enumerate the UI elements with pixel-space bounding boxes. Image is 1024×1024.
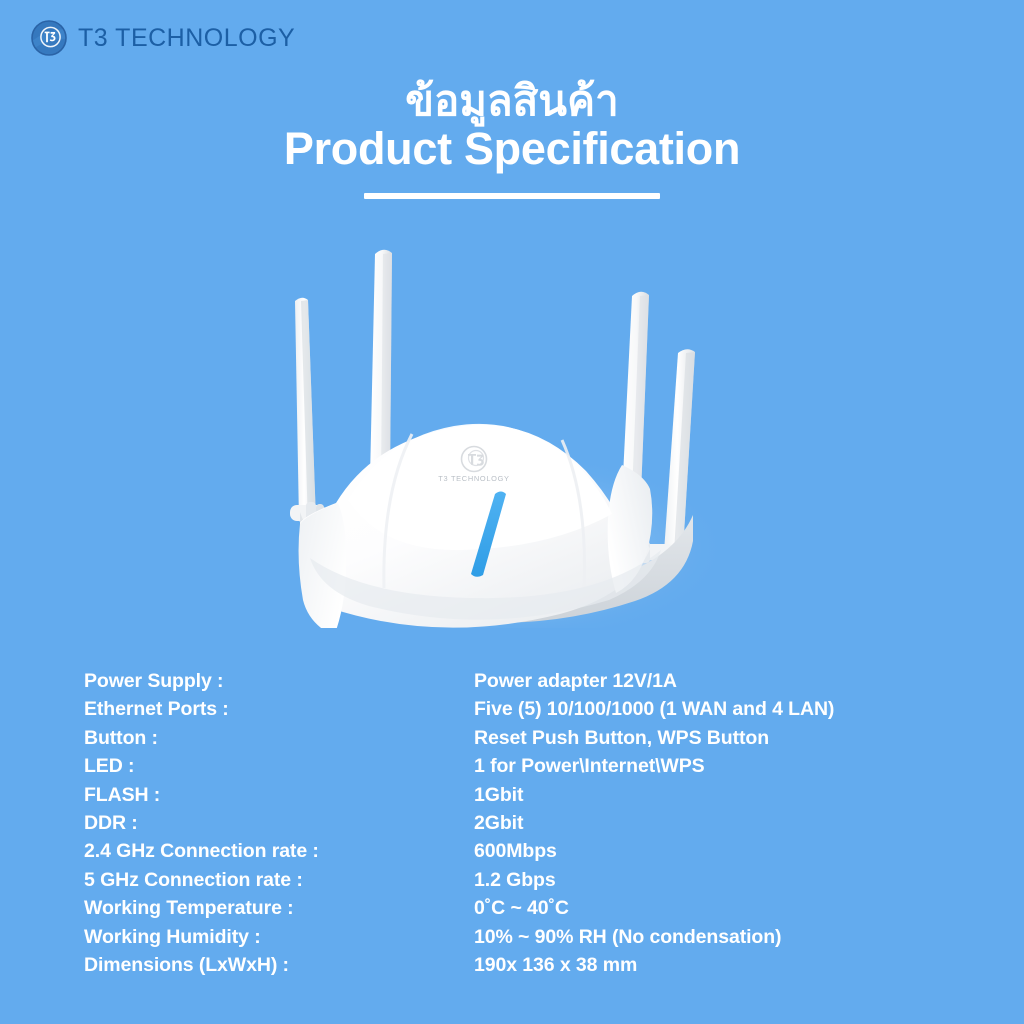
table-row: DDR : 2Gbit — [84, 812, 964, 840]
spec-value: 2Gbit — [474, 812, 964, 835]
brand-name-label: T3 TECHNOLOGY — [78, 26, 295, 51]
spec-label: 2.4 GHz Connection rate : — [84, 840, 474, 863]
wifi-router-product-image: T3 TECHNOLOGY — [262, 228, 762, 628]
table-row: FLASH : 1Gbit — [84, 784, 964, 812]
page-title-block: ข้อมูลสินค้า Product Specification — [0, 78, 1024, 199]
spec-value: Reset Push Button, WPS Button — [474, 727, 964, 750]
brand-header: T3 TECHNOLOGY — [30, 16, 295, 60]
page-title-english: Product Specification — [0, 123, 1024, 175]
page-title-thai: ข้อมูลสินค้า — [0, 78, 1024, 123]
table-row: 2.4 GHz Connection rate : 600Mbps — [84, 840, 964, 868]
spec-value: 10% ~ 90% RH (No condensation) — [474, 926, 964, 949]
table-row: Power Supply : Power adapter 12V/1A — [84, 670, 964, 698]
spec-value: Five (5) 10/100/1000 (1 WAN and 4 LAN) — [474, 698, 964, 721]
spec-value: 600Mbps — [474, 840, 964, 863]
spec-label: DDR : — [84, 812, 474, 835]
antenna-far-left — [295, 298, 316, 524]
table-row: LED : 1 for Power\Internet\WPS — [84, 755, 964, 783]
spec-label: Dimensions (LxWxH) : — [84, 954, 474, 977]
spec-value: 1.2 Gbps — [474, 869, 964, 892]
title-underline-divider — [364, 193, 660, 199]
t3-circular-swirl-logo-icon — [30, 19, 68, 57]
spec-label: Button : — [84, 727, 474, 750]
spec-value: 1Gbit — [474, 784, 964, 807]
spec-label: 5 GHz Connection rate : — [84, 869, 474, 892]
spec-value: Power adapter 12V/1A — [474, 670, 964, 693]
spec-label: Power Supply : — [84, 670, 474, 693]
spec-label: Working Humidity : — [84, 926, 474, 949]
table-row: Dimensions (LxWxH) : 190x 136 x 38 mm — [84, 954, 964, 982]
spec-value: 190x 136 x 38 mm — [474, 954, 964, 977]
specification-table: Power Supply : Power adapter 12V/1A Ethe… — [84, 670, 964, 982]
router-logo-caption: T3 TECHNOLOGY — [438, 474, 509, 483]
table-row: 5 GHz Connection rate : 1.2 Gbps — [84, 869, 964, 897]
table-row: Working Temperature : 0˚C ~ 40˚C — [84, 897, 964, 925]
spec-value: 1 for Power\Internet\WPS — [474, 755, 964, 778]
spec-label: FLASH : — [84, 784, 474, 807]
spec-label: Working Temperature : — [84, 897, 474, 920]
table-row: Ethernet Ports : Five (5) 10/100/1000 (1… — [84, 698, 964, 726]
table-row: Button : Reset Push Button, WPS Button — [84, 727, 964, 755]
antenna-inner-left — [370, 250, 392, 482]
product-specification-page: T3 TECHNOLOGY ข้อมูลสินค้า Product Speci… — [0, 0, 1024, 1024]
spec-label: Ethernet Ports : — [84, 698, 474, 721]
spec-value: 0˚C ~ 40˚C — [474, 897, 964, 920]
spec-label: LED : — [84, 755, 474, 778]
table-row: Working Humidity : 10% ~ 90% RH (No cond… — [84, 926, 964, 954]
